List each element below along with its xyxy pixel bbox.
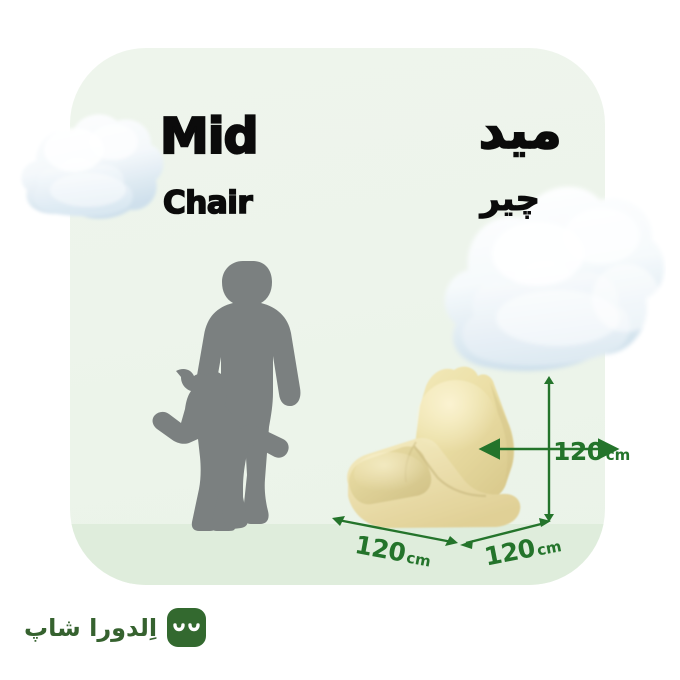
depth-unit: cm bbox=[535, 537, 563, 559]
brand-name: اِلدورا شاپ bbox=[24, 616, 157, 640]
height-unit: cm bbox=[606, 446, 631, 464]
width-unit: cm bbox=[405, 548, 432, 570]
product-banner: Mid Chair مید چیر bbox=[0, 0, 680, 680]
height-value: 120 bbox=[553, 437, 604, 466]
product-title-persian: مید bbox=[479, 105, 562, 157]
brand-logo[interactable]: اِلدورا شاپ bbox=[24, 608, 206, 647]
eldora-logo-icon bbox=[167, 608, 206, 647]
product-subtitle-persian: چیر bbox=[480, 182, 540, 216]
bean-bag-chair bbox=[338, 362, 548, 530]
scale-figures bbox=[143, 253, 321, 531]
product-subtitle-english: Chair bbox=[163, 188, 252, 219]
product-title-english: Mid bbox=[160, 112, 258, 161]
height-dimension-label: 120cm bbox=[553, 437, 630, 466]
